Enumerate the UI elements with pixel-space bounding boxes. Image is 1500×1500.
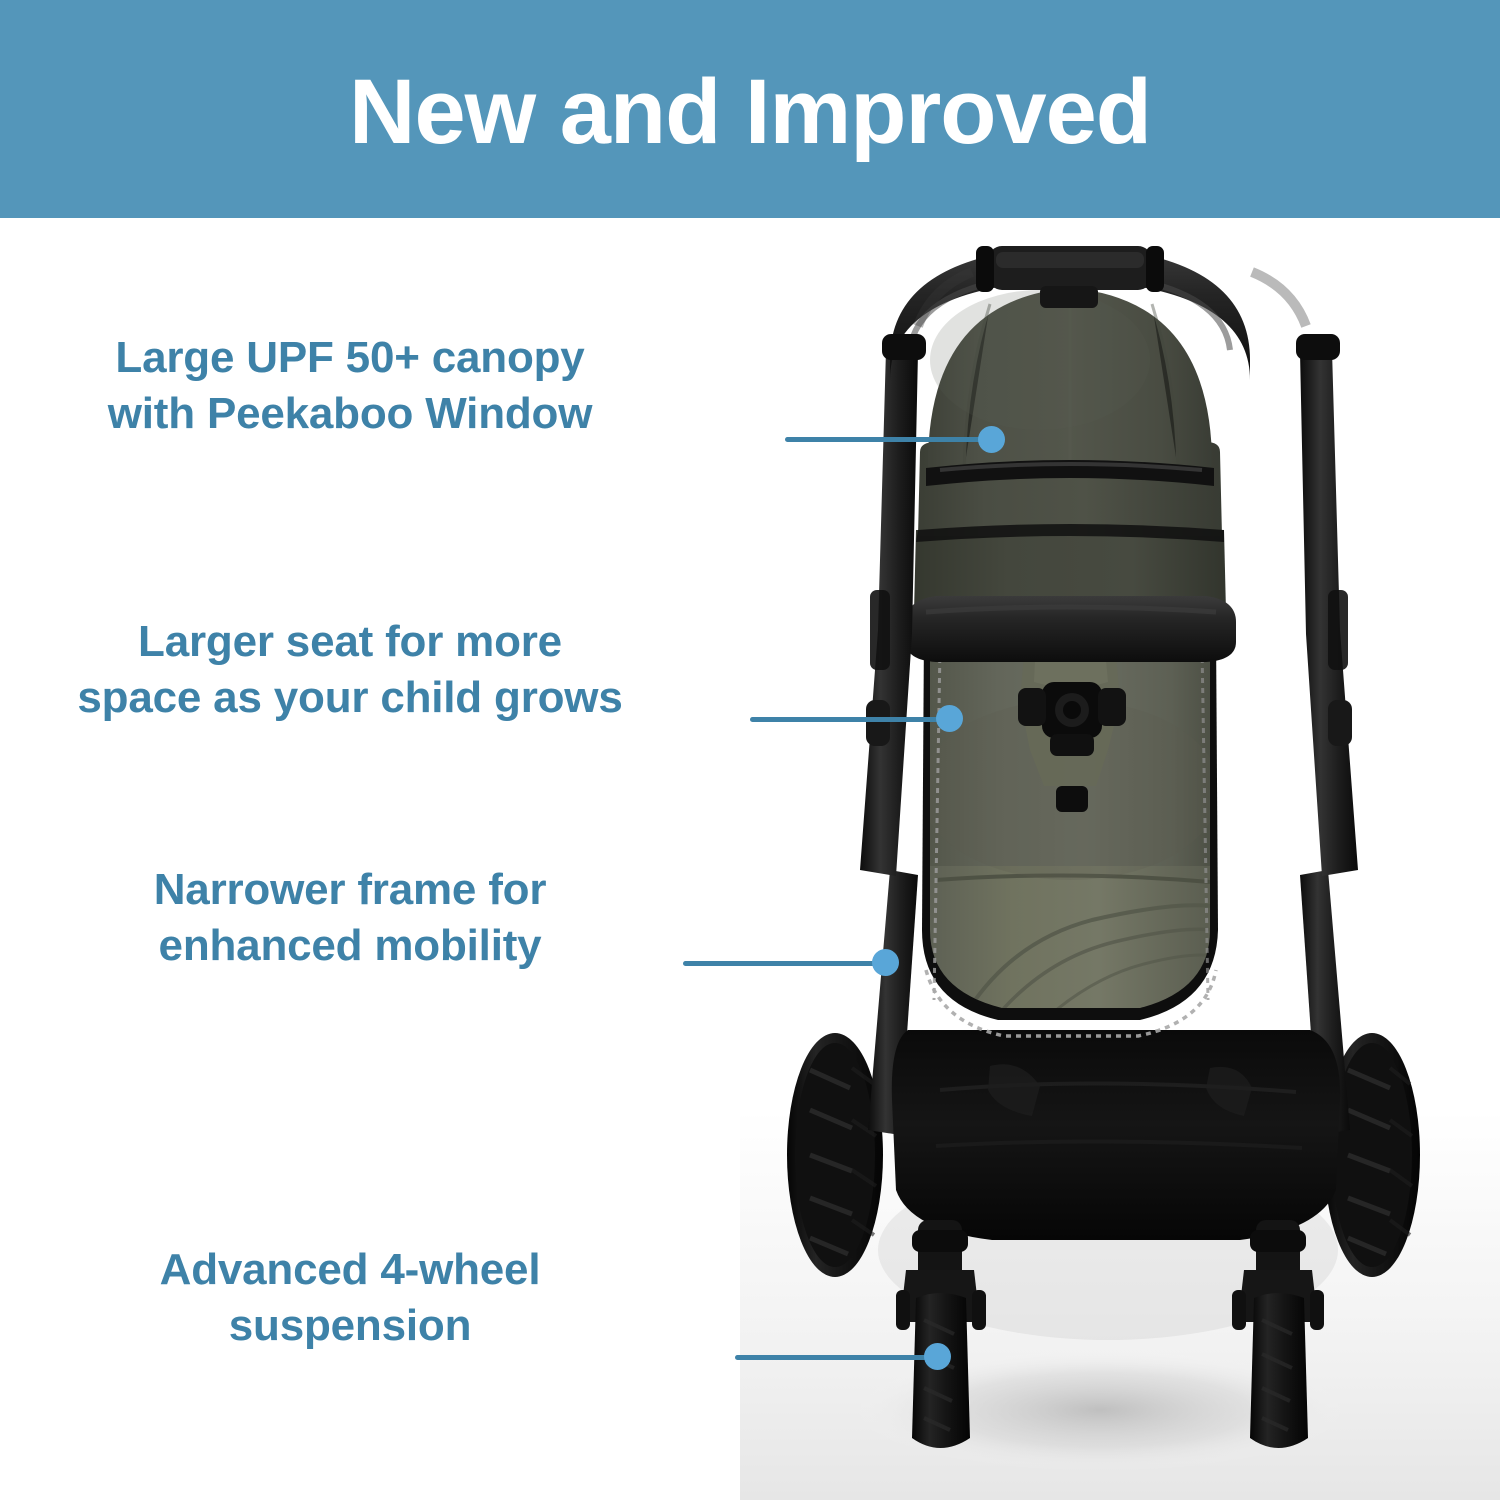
header-band: New and Improved — [0, 0, 1500, 218]
callout-frame-line2: enhanced mobility — [0, 918, 700, 974]
callout-label-seat: Larger seat for more space as your child… — [0, 614, 700, 727]
leader-line-seat — [750, 717, 950, 722]
callout-label-canopy: Large UPF 50+ canopy with Peekaboo Windo… — [0, 330, 700, 443]
leader-line-suspension — [735, 1355, 938, 1360]
callout-suspension-line1: Advanced 4-wheel — [0, 1242, 700, 1298]
storage-basket — [892, 1030, 1340, 1240]
leader-dot-seat — [936, 705, 963, 732]
infographic-page: New and Improved — [0, 0, 1500, 1500]
callout-canopy-line2: with Peekaboo Window — [0, 386, 700, 442]
callout-canopy-line1: Large UPF 50+ canopy — [0, 330, 700, 386]
product-image-stroller — [740, 230, 1500, 1500]
callout-seat-line2: space as your child grows — [0, 670, 700, 726]
callout-label-frame: Narrower frame for enhanced mobility — [0, 862, 700, 975]
callout-suspension-line2: suspension — [0, 1298, 700, 1354]
leader-dot-canopy — [978, 426, 1005, 453]
callout-label-suspension: Advanced 4-wheel suspension — [0, 1242, 700, 1355]
rear-wheel-left — [787, 1033, 883, 1277]
page-title: New and Improved — [349, 66, 1151, 158]
leader-dot-frame — [872, 949, 899, 976]
leader-dot-suspension — [924, 1343, 951, 1370]
leader-line-canopy — [785, 437, 990, 442]
callout-seat-line1: Larger seat for more — [0, 614, 700, 670]
callout-frame-line1: Narrower frame for — [0, 862, 700, 918]
canopy — [912, 288, 1228, 633]
leader-line-frame — [683, 961, 886, 966]
seat-pad — [920, 630, 1220, 1036]
